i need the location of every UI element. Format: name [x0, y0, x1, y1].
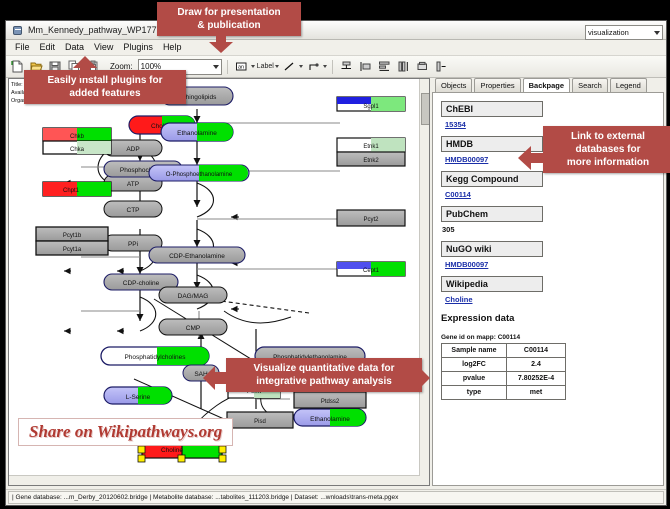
svg-text:Chkb: Chkb — [70, 134, 85, 140]
gene-chka: Chka — [43, 141, 111, 154]
svg-text:Sgpl1: Sgpl1 — [363, 104, 379, 110]
svg-text:Cept1: Cept1 — [363, 268, 380, 274]
callout-visualize: Visualize quantitative data for integrat… — [226, 358, 422, 392]
chevron-down-icon[interactable] — [275, 65, 279, 68]
gene-etnk2: Etnk2 — [337, 152, 405, 166]
gene-pisd: Pisd — [227, 412, 293, 428]
svg-text:CMP: CMP — [186, 325, 200, 332]
screenshot-root: Mm_Kennedy_pathway_WP1771_45176.gpml Fil… — [0, 0, 670, 509]
align-center-icon[interactable] — [338, 58, 355, 75]
chevron-down-icon — [213, 65, 219, 69]
db-value-pubchem: 305 — [442, 225, 663, 234]
menu-data[interactable]: Data — [60, 40, 89, 55]
node-phosphatidylcholines: Phosphatidylcholines — [101, 347, 209, 365]
svg-text:Ethanolamine: Ethanolamine — [310, 416, 350, 423]
menu-view[interactable]: View — [89, 40, 118, 55]
statusbar-text: | Gene database: ...m_Derby_20120602.bri… — [8, 491, 664, 504]
cell-key: log2FC — [442, 358, 507, 372]
db-header-nugo: NuGO wiki — [441, 241, 543, 257]
menubar: File Edit Data View Plugins Help — [6, 40, 666, 56]
node-l-serine-left: L-Serine — [104, 387, 172, 404]
node-adp: ADP — [104, 140, 162, 156]
svg-text:ATP: ATP — [127, 181, 139, 188]
svg-text:an: an — [238, 65, 244, 71]
callout-visualize-line1: Visualize quantitative data for — [233, 362, 415, 375]
table-row: Sample name C00114 — [442, 344, 566, 358]
cell-key: pvalue — [442, 372, 507, 386]
tab-properties[interactable]: Properties — [474, 78, 520, 92]
db-header-chebi: ChEBI — [441, 101, 543, 117]
datanode-tool[interactable]: an — [233, 58, 255, 75]
menu-file[interactable]: File — [10, 40, 35, 55]
toolbar-separator — [227, 60, 228, 74]
label-tool-text: Label — [257, 63, 274, 70]
callout-plugins: Easily install plugins for added feature… — [24, 70, 186, 104]
db-header-wikipedia: Wikipedia — [441, 276, 543, 292]
callout-draw: Draw for presentation & publication — [157, 2, 301, 36]
group-icon[interactable] — [414, 58, 431, 75]
svg-text:Pcyt2: Pcyt2 — [363, 217, 379, 223]
gene-ptdss2: Ptdss2 — [294, 392, 366, 408]
align-left-icon[interactable] — [357, 58, 374, 75]
menu-edit[interactable]: Edit — [35, 40, 61, 55]
db-link-wikipedia[interactable]: Choline — [445, 295, 663, 304]
tab-backpage[interactable]: Backpage — [523, 78, 570, 93]
toolbar-separator — [332, 60, 333, 74]
svg-text:ADP: ADP — [126, 146, 139, 153]
db-header-pubchem: PubChem — [441, 206, 543, 222]
canvas-horizontal-scrollbar[interactable] — [9, 475, 420, 485]
chevron-down-icon — [654, 31, 660, 35]
callout-links-line3: more information — [550, 156, 666, 169]
side-panel-tabs: Objects Properties Backpage Search Legen… — [432, 78, 664, 92]
tab-search[interactable]: Search — [572, 78, 608, 92]
table-row: log2FC 2.4 — [442, 358, 566, 372]
cell-value: C00114 — [507, 344, 566, 358]
menu-plugins[interactable]: Plugins — [118, 40, 158, 55]
svg-text:Chpt1: Chpt1 — [63, 188, 80, 194]
gene-pcyt1a: Pcyt1a — [36, 241, 108, 255]
cell-key: type — [442, 386, 507, 400]
datanode-icon[interactable]: an — [233, 58, 250, 75]
svg-text:CDP-Ethanolamine: CDP-Ethanolamine — [169, 253, 225, 260]
table-row: pvalue 7.80252E-4 — [442, 372, 566, 386]
cell-value: 2.4 — [507, 358, 566, 372]
svg-text:Pcyt1b: Pcyt1b — [63, 233, 82, 239]
gene-chpt1: Chpt1 — [43, 182, 111, 196]
gene-pcyt1b: Pcyt1b — [36, 227, 108, 241]
svg-text:Chka: Chka — [70, 147, 85, 153]
gene-id-line: Gene id on mapp: C00114 — [441, 334, 663, 341]
svg-text:CDP-choline: CDP-choline — [123, 280, 160, 287]
svg-text:Etnk2: Etnk2 — [363, 158, 379, 164]
callout-plugins-line2: added features — [31, 87, 179, 100]
svg-text:CTP: CTP — [127, 207, 140, 214]
svg-text:O-Phosphoethanolamine: O-Phosphoethanolamine — [166, 172, 233, 178]
gene-cept1: Cept1 — [337, 262, 405, 276]
expression-table: Sample name C00114 log2FC 2.4 pvalue 7.8… — [441, 343, 566, 400]
svg-text:DAG/MAG: DAG/MAG — [178, 293, 209, 300]
svg-text:Ethanolamine: Ethanolamine — [177, 130, 217, 137]
interaction-tool[interactable] — [305, 58, 327, 75]
menu-help[interactable]: Help — [158, 40, 187, 55]
db-link-kegg[interactable]: C00114 — [445, 190, 663, 199]
label-tool[interactable]: Label — [257, 63, 279, 70]
statusbar: | Gene database: ...m_Derby_20120602.bri… — [6, 489, 666, 505]
callout-visualize-arrow-right — [406, 366, 431, 390]
visualization-value: visualization — [588, 28, 629, 37]
tab-objects[interactable]: Objects — [435, 78, 472, 92]
svg-text:Pcyt1a: Pcyt1a — [63, 247, 82, 253]
callout-visualize-arrow-left — [203, 366, 228, 390]
callout-draw-line1: Draw for presentation — [164, 6, 294, 19]
svg-text:Choline: Choline — [161, 447, 183, 454]
window-titlebar: Mm_Kennedy_pathway_WP1771_45176.gpml — [6, 21, 666, 40]
application-icon — [12, 25, 23, 36]
cell-value: met — [507, 386, 566, 400]
svg-text:Pisd: Pisd — [254, 419, 266, 425]
node-ethanolamine: Ethanolamine — [161, 123, 233, 141]
node-dag-mag: DAG/MAG — [159, 287, 227, 303]
line-tool[interactable] — [281, 58, 303, 75]
svg-text:Phosphatidylcholines: Phosphatidylcholines — [124, 354, 186, 361]
gene-pcyt2: Pcyt2 — [337, 210, 405, 226]
callout-links-line2: databases for — [550, 143, 666, 156]
chevron-down-icon[interactable] — [323, 65, 327, 68]
cell-key: Sample name — [442, 344, 507, 358]
gene-sgpl1: Sgpl1 — [337, 97, 405, 111]
node-cdp-ethanolamine: CDP-Ethanolamine — [149, 247, 245, 263]
order-icon[interactable] — [433, 58, 450, 75]
gene-etnk1: Etnk1 — [337, 138, 405, 152]
svg-text:Etnk1: Etnk1 — [363, 144, 379, 150]
stack-icon[interactable] — [395, 58, 412, 75]
scrollbar-thumb[interactable] — [421, 93, 430, 125]
node-ctp: CTP — [104, 201, 162, 217]
table-row: type met — [442, 386, 566, 400]
expression-data-heading: Expression data — [441, 313, 663, 324]
callout-links-arrow — [518, 145, 546, 171]
callout-share-text: Share on Wikipathways.org — [29, 422, 222, 441]
cell-value: 7.80252E-4 — [507, 372, 566, 386]
gene-chkb: Chkb — [43, 128, 111, 141]
distribute-icon[interactable] — [376, 58, 393, 75]
callout-visualize-line2: integrative pathway analysis — [233, 375, 415, 388]
interaction-icon[interactable] — [305, 58, 322, 75]
svg-text:Ptdss2: Ptdss2 — [321, 399, 340, 405]
visualization-select[interactable]: visualization — [585, 25, 663, 40]
chevron-down-icon[interactable] — [299, 65, 303, 68]
callout-plugins-arrow — [71, 56, 99, 78]
callout-draw-line2: & publication — [164, 19, 294, 32]
node-o-phosphoethanolamine: O-Phosphoethanolamine — [149, 165, 249, 181]
chevron-down-icon[interactable] — [251, 65, 255, 68]
svg-text:PPi: PPi — [128, 241, 138, 248]
tab-legend[interactable]: Legend — [610, 78, 647, 92]
callout-share: Share on Wikipathways.org — [18, 418, 233, 446]
node-ethanolamine-bottom: Ethanolamine — [294, 409, 366, 426]
callout-links: Link to external databases for more info… — [543, 126, 670, 173]
callout-draw-arrow — [208, 32, 234, 54]
callout-links-line1: Link to external — [550, 130, 666, 143]
callout-plugins-line1: Easily install plugins for — [31, 74, 179, 87]
db-link-nugo[interactable]: HMDB00097 — [445, 260, 663, 269]
db-header-kegg: Kegg Compound — [441, 171, 543, 187]
svg-text:L-Serine: L-Serine — [126, 394, 151, 401]
line-icon[interactable] — [281, 58, 298, 75]
canvas-vertical-scrollbar[interactable] — [419, 79, 429, 485]
node-cmp: CMP — [159, 319, 227, 335]
